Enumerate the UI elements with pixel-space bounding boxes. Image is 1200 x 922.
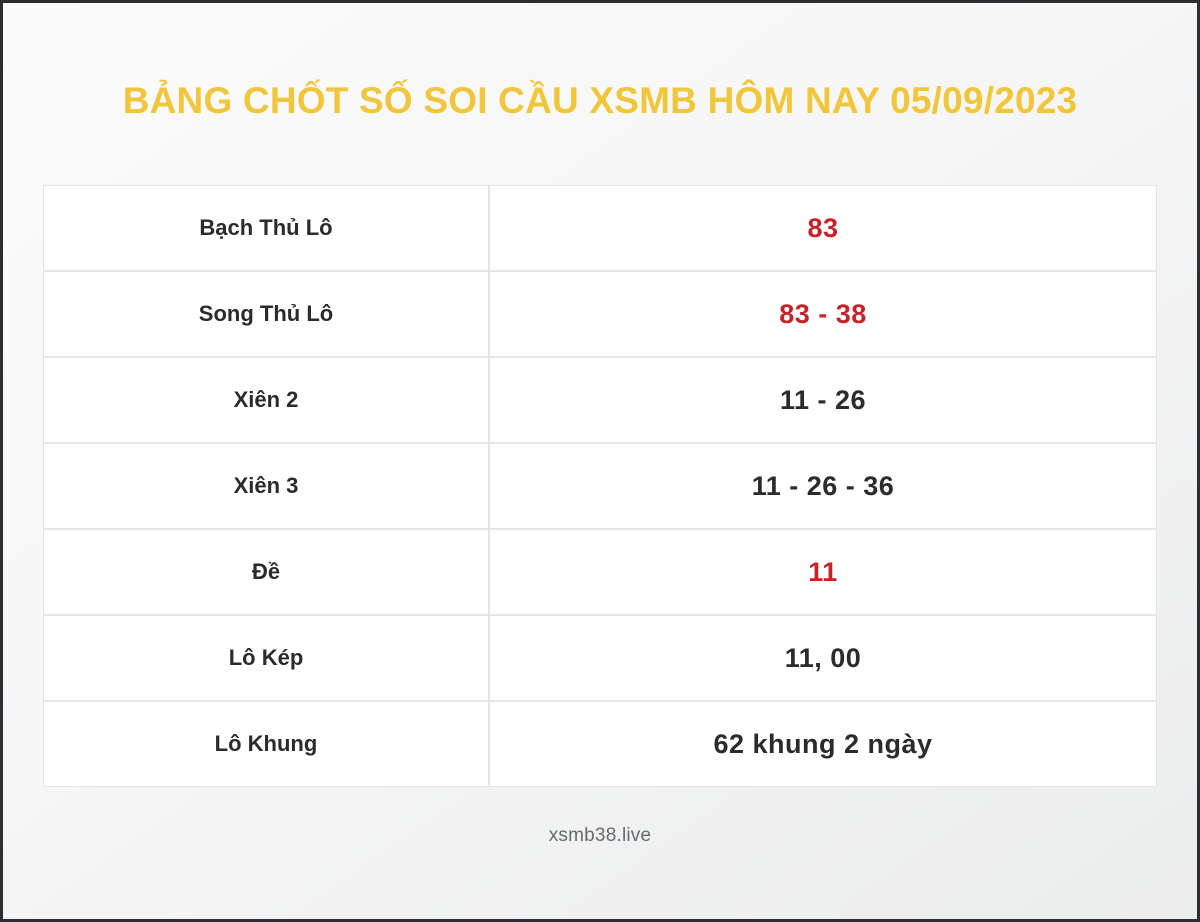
row-value-lo-kep: 11, 00: [489, 615, 1157, 701]
prediction-table: Bạch Thủ Lô 83 Song Thủ Lô 83 - 38 Xiên …: [43, 185, 1157, 787]
page-root: BẢNG CHỐT SỐ SOI CẦU XSMB HÔM NAY 05/09/…: [3, 3, 1197, 919]
row-value-de: 11: [489, 529, 1157, 615]
page-title: BẢNG CHỐT SỐ SOI CẦU XSMB HÔM NAY 05/09/…: [123, 80, 1078, 122]
row-label-bach-thu-lo: Bạch Thủ Lô: [43, 185, 489, 271]
row-label-lo-khung: Lô Khung: [43, 701, 489, 787]
row-label-xien-2: Xiên 2: [43, 357, 489, 443]
table-row: Xiên 2 11 - 26: [43, 357, 1157, 443]
row-label-song-thu-lo: Song Thủ Lô: [43, 271, 489, 357]
prediction-table-body: Bạch Thủ Lô 83 Song Thủ Lô 83 - 38 Xiên …: [43, 185, 1157, 787]
row-label-de: Đề: [43, 529, 489, 615]
row-value-xien-2: 11 - 26: [489, 357, 1157, 443]
footer-container: xsmb38.live: [3, 787, 1197, 919]
row-label-xien-3: Xiên 3: [43, 443, 489, 529]
table-row: Song Thủ Lô 83 - 38: [43, 271, 1157, 357]
row-value-lo-khung: 62 khung 2 ngày: [489, 701, 1157, 787]
table-row: Lô Khung 62 khung 2 ngày: [43, 701, 1157, 787]
table-row: Lô Kép 11, 00: [43, 615, 1157, 701]
row-value-bach-thu-lo: 83: [489, 185, 1157, 271]
title-container: BẢNG CHỐT SỐ SOI CẦU XSMB HÔM NAY 05/09/…: [3, 3, 1197, 185]
row-value-song-thu-lo: 83 - 38: [489, 271, 1157, 357]
row-label-lo-kep: Lô Kép: [43, 615, 489, 701]
table-row: Xiên 3 11 - 26 - 36: [43, 443, 1157, 529]
table-row: Bạch Thủ Lô 83: [43, 185, 1157, 271]
row-value-xien-3: 11 - 26 - 36: [489, 443, 1157, 529]
table-row: Đề 11: [43, 529, 1157, 615]
site-watermark: xsmb38.live: [549, 825, 652, 847]
prediction-table-container: Bạch Thủ Lô 83 Song Thủ Lô 83 - 38 Xiên …: [43, 185, 1157, 787]
